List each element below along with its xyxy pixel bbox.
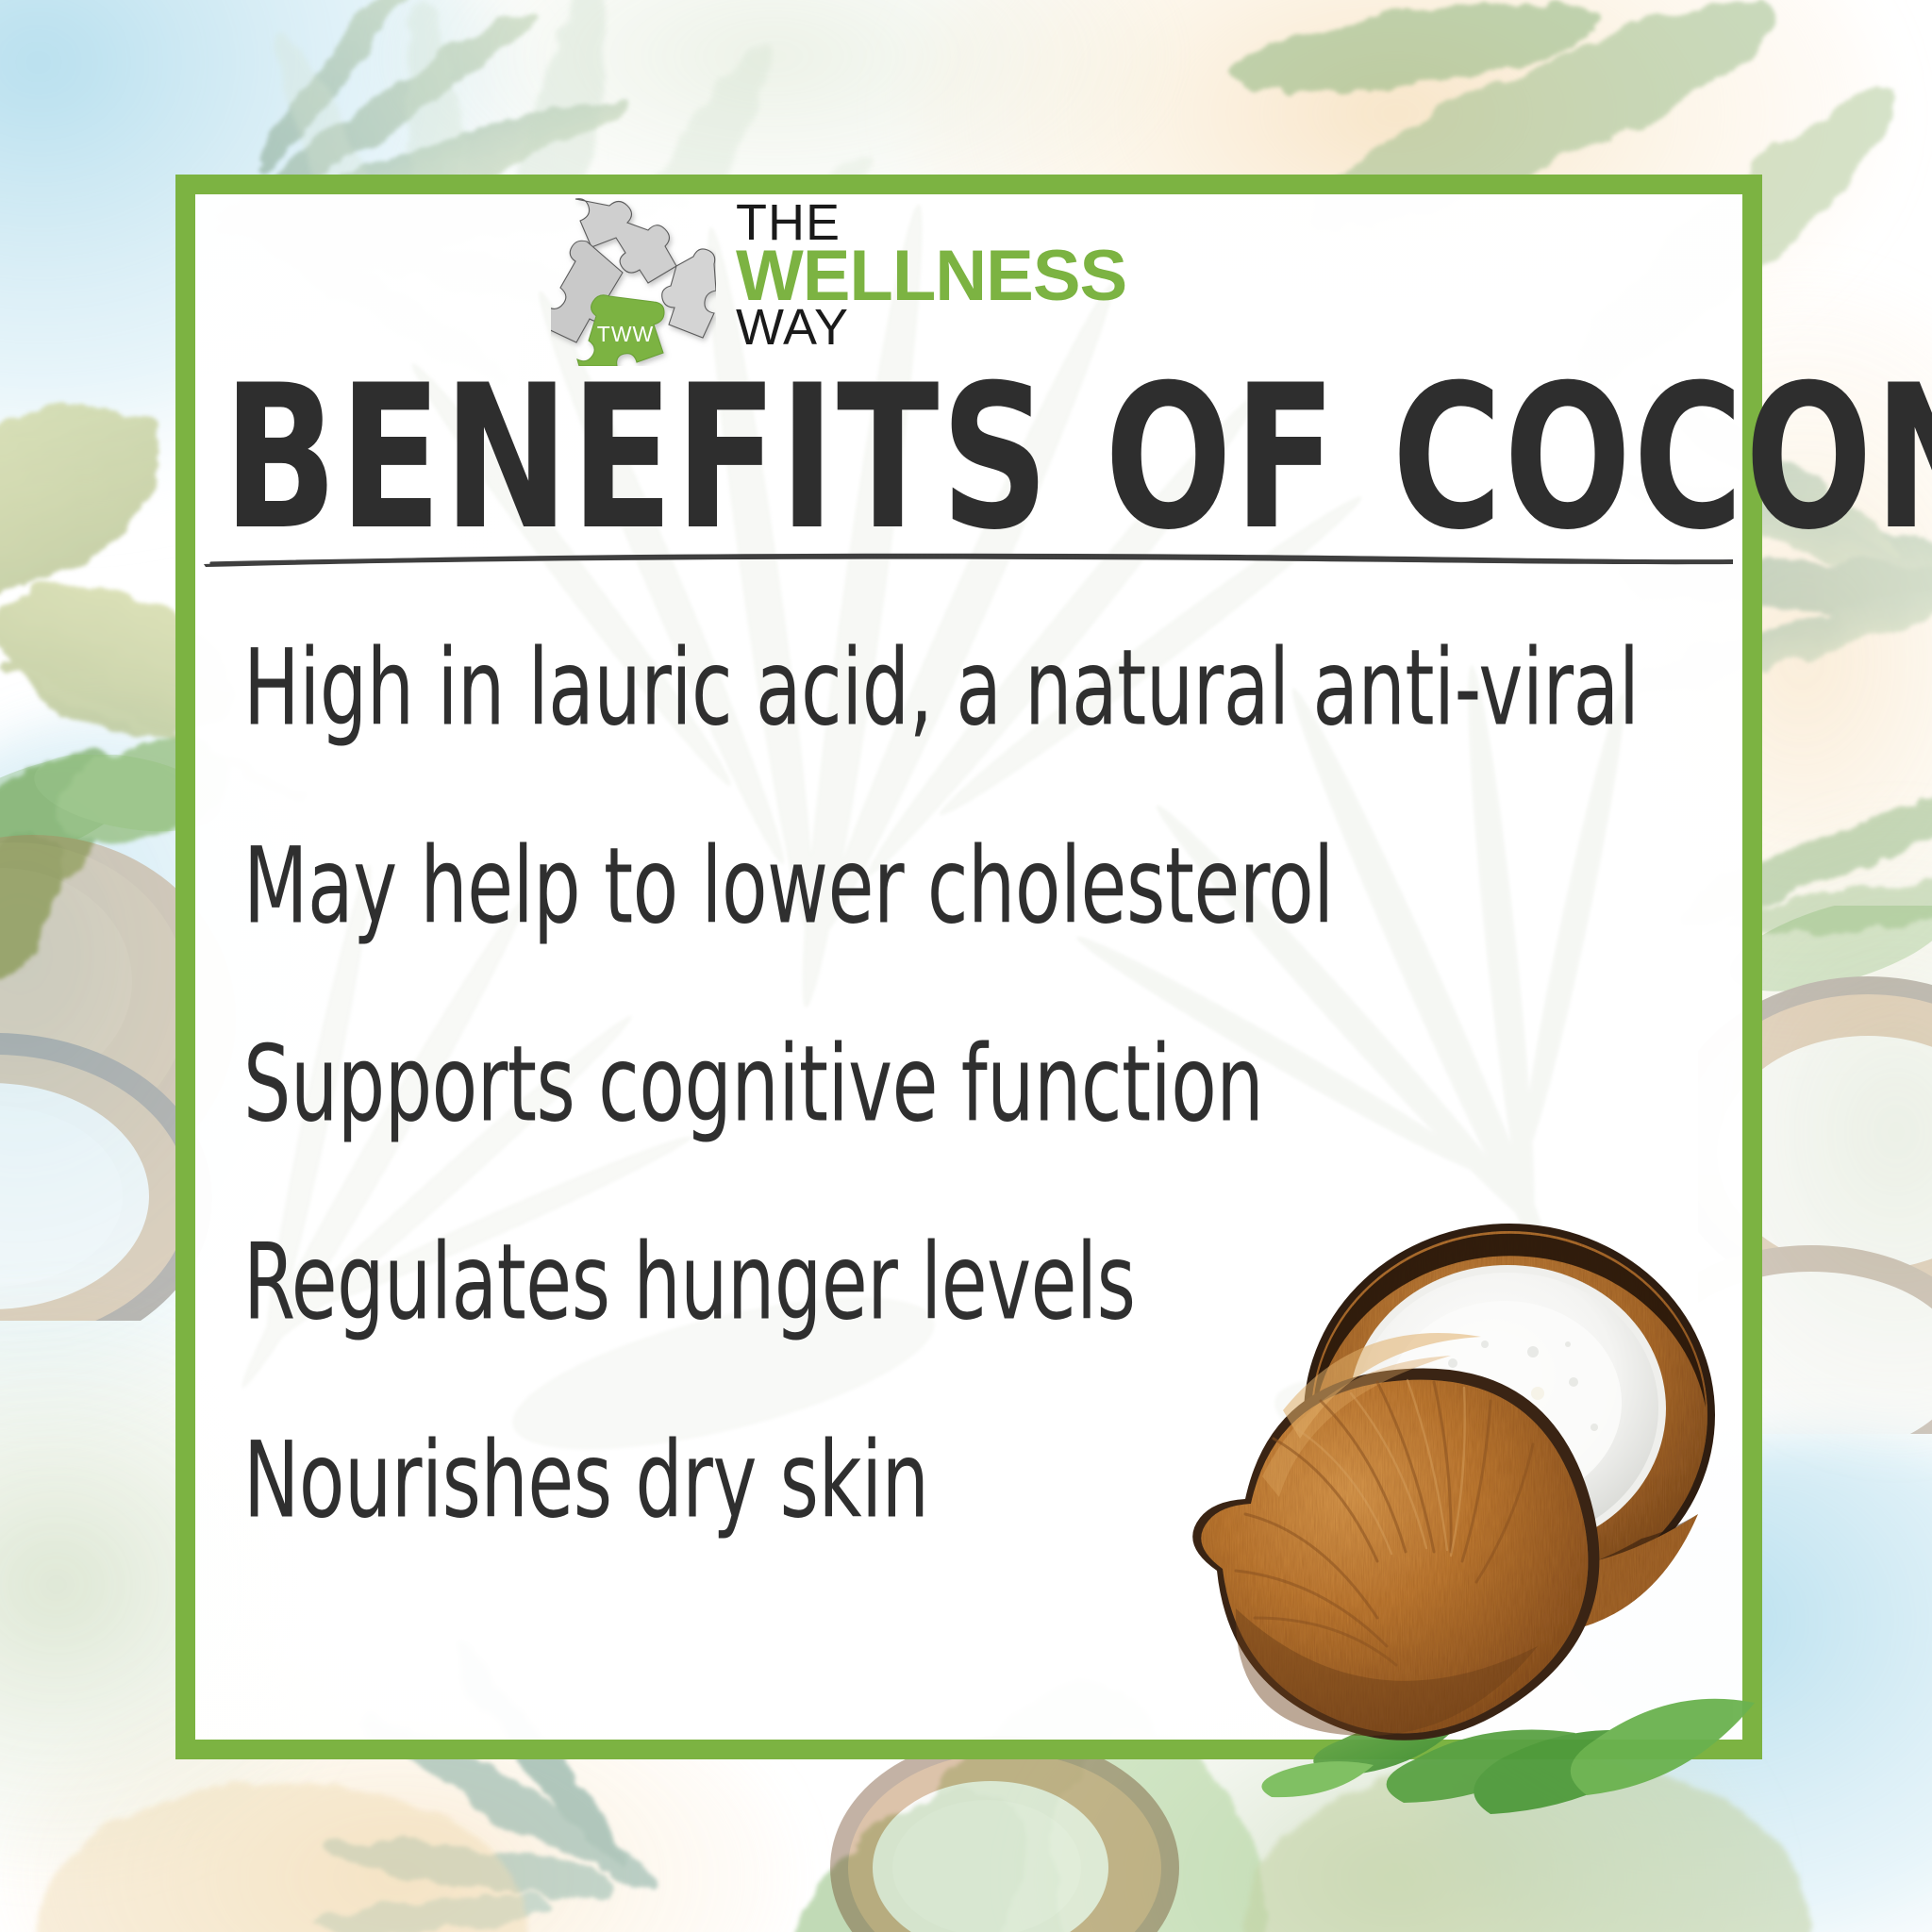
list-item: Supports cognitive function: [243, 972, 1517, 1197]
list-item: High in lauric acid, a natural anti-vira…: [243, 575, 1517, 801]
coconut-illustration-main: [1104, 1193, 1764, 1854]
brand-wordmark: THE WELLNESS WAY: [736, 200, 1126, 351]
puzzle-pieces-icon: TWW: [551, 198, 716, 366]
list-item: May help to lower cholesterol: [243, 774, 1517, 999]
poster-canvas: TWW THE WELLNESS WAY BENEFITS OF COCONUT…: [0, 0, 1932, 1932]
page-title: BENEFITS OF COCONUT: [223, 359, 1714, 558]
title-underline-brushstroke: [202, 552, 1735, 567]
